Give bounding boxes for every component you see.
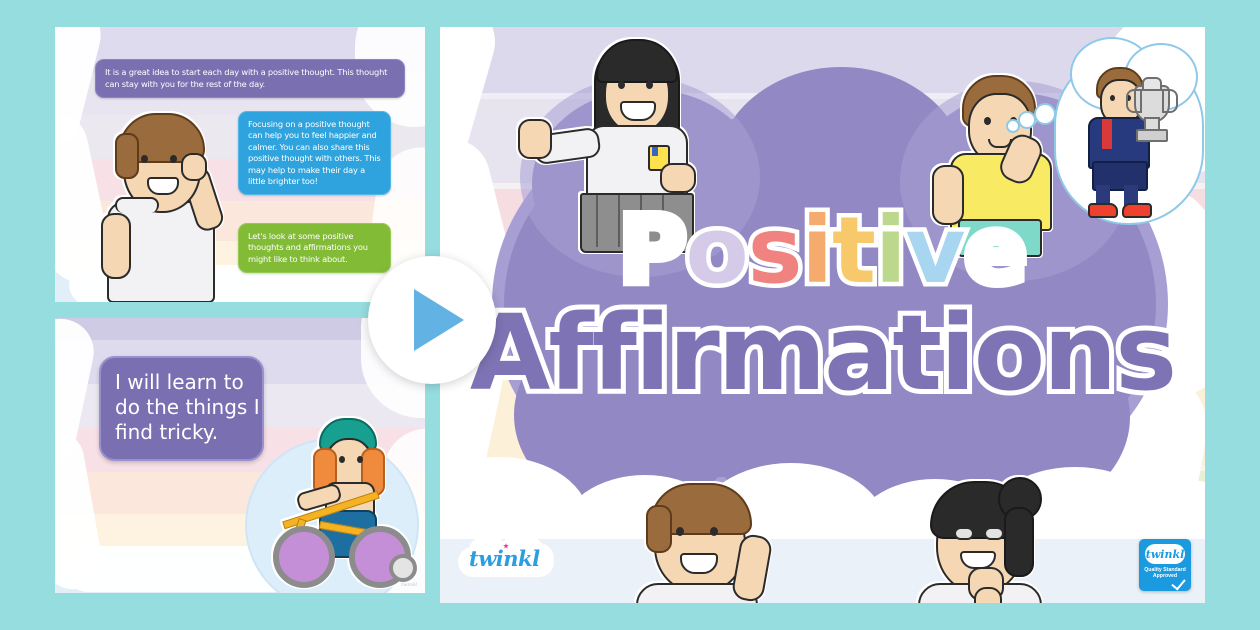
character-girl-thinking bbox=[918, 475, 1078, 603]
presentation-preview: It is a great idea to start each day wit… bbox=[0, 0, 1260, 630]
title-letter-o: o bbox=[685, 205, 747, 297]
thumbnail-slide-1[interactable]: It is a great idea to start each day wit… bbox=[55, 27, 425, 302]
character-boy-smiling bbox=[632, 479, 792, 603]
affirmation-plaque: I will learn to do the things I find tri… bbox=[99, 356, 264, 461]
main-slide[interactable]: Positive Affirmations twinkl twinkl Qual… bbox=[440, 27, 1205, 603]
thumbnail-slide-2[interactable]: I will learn to do the things I find tri… bbox=[55, 318, 425, 593]
play-triangle-icon bbox=[414, 289, 464, 351]
slide-title: Positive Affirmations bbox=[440, 205, 1205, 405]
bubble-2: Focusing on a positive thought can help … bbox=[238, 111, 391, 195]
title-letter-i1: i bbox=[801, 205, 832, 297]
play-button[interactable] bbox=[368, 256, 496, 384]
title-letter-i2: i bbox=[875, 205, 906, 297]
thumbnail-watermark: twinkl bbox=[401, 582, 417, 588]
title-line-positive: Positive bbox=[619, 205, 1026, 297]
title-letter-s: s bbox=[748, 205, 802, 297]
character-girl-on-bicycle bbox=[273, 414, 413, 579]
bubble-1: It is a great idea to start each day wit… bbox=[95, 59, 405, 98]
title-line-affirmations: Affirmations bbox=[470, 301, 1175, 405]
twinkl-logo-text: twinkl bbox=[469, 546, 540, 571]
title-letter-v: v bbox=[906, 205, 965, 297]
quality-standard-badge: twinkl Quality Standard Approved bbox=[1139, 539, 1191, 591]
title-letter-t: t bbox=[832, 205, 875, 297]
bubble-3: Let's look at some positive thoughts and… bbox=[238, 223, 391, 273]
twinkl-logo: twinkl bbox=[458, 533, 554, 581]
thought-bubble-footballer bbox=[1052, 37, 1202, 227]
title-letter-P: P bbox=[619, 205, 685, 297]
character-boy-thinking bbox=[93, 109, 228, 299]
badge-brand-text: twinkl bbox=[1139, 548, 1191, 561]
title-letter-e: e bbox=[965, 205, 1026, 297]
